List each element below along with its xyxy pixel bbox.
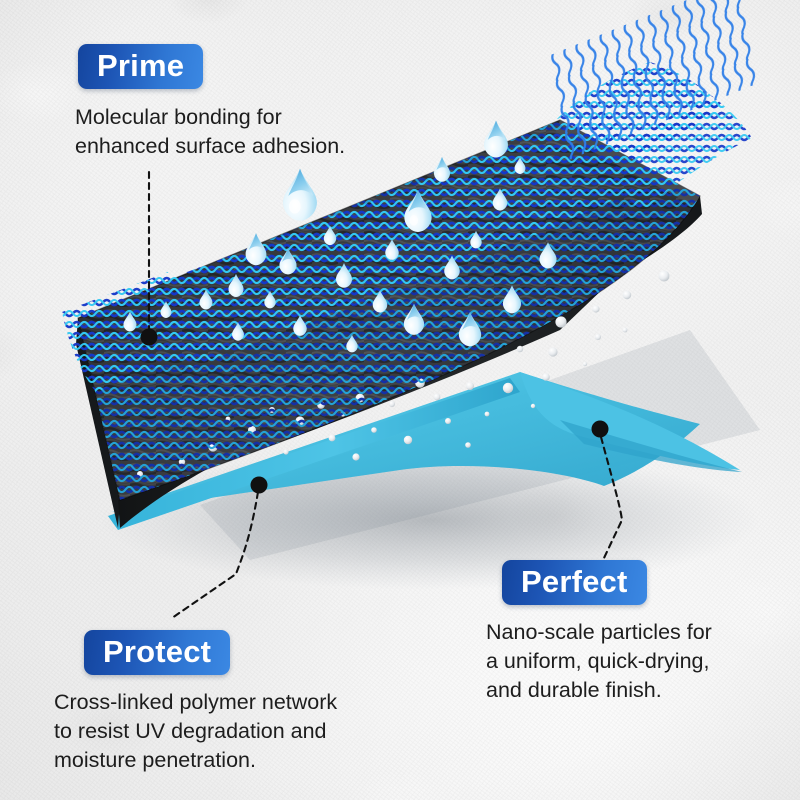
badge-perfect[interactable]: Perfect	[502, 560, 647, 605]
badge-protect[interactable]: Protect	[84, 630, 230, 675]
badge-prime[interactable]: Prime	[78, 44, 203, 89]
description-perfect: Nano-scale particles for a uniform, quic…	[486, 618, 712, 705]
dot-protect	[251, 477, 268, 494]
description-prime: Molecular bonding for enhanced surface a…	[75, 103, 345, 161]
dot-perfect	[592, 421, 609, 438]
dot-prime	[141, 329, 158, 346]
callout-protect: Protect Cross-linked polymer network to …	[54, 630, 337, 775]
callout-prime: Prime Molecular bonding for enhanced sur…	[78, 44, 345, 161]
infographic-canvas: Prime Molecular bonding for enhanced sur…	[0, 0, 800, 800]
description-protect: Cross-linked polymer network to resist U…	[54, 688, 337, 775]
callout-perfect: Perfect Nano-scale particles for a unifo…	[486, 560, 712, 705]
